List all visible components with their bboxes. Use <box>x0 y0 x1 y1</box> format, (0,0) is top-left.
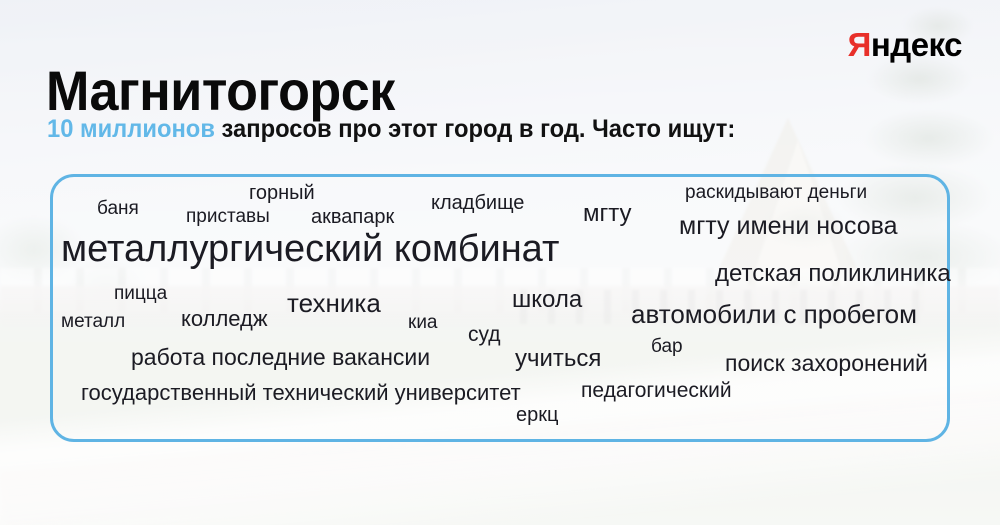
tag-cloud-item[interactable]: колледж <box>181 308 268 330</box>
tag-cloud-item[interactable]: пицца <box>114 284 167 303</box>
tag-cloud-item[interactable]: киа <box>408 313 438 332</box>
tag-cloud-item[interactable]: еркц <box>516 405 558 425</box>
subtitle: 10 миллионов запросов про этот город в г… <box>47 114 735 144</box>
tag-cloud-item[interactable]: кладбище <box>431 193 524 213</box>
tag-cloud-item[interactable]: аквапарк <box>311 207 394 227</box>
tag-cloud-item[interactable]: мгту имени носова <box>679 214 898 239</box>
tag-cloud-item[interactable]: педагогический <box>581 380 732 401</box>
yandex-logo-rest: ндекс <box>871 26 962 63</box>
infographic-canvas: Яндекс Магнитогорск 10 миллионов запросо… <box>0 0 1000 525</box>
tag-cloud-item[interactable]: школа <box>512 288 582 312</box>
subtitle-highlight: 10 миллионов <box>47 115 215 143</box>
tag-cloud-item[interactable]: поиск захоронений <box>725 352 928 375</box>
tag-cloud-item[interactable]: учиться <box>515 347 601 371</box>
tag-cloud-item[interactable]: приставы <box>186 207 270 226</box>
subtitle-rest: запросов про этот город в год. Часто ищу… <box>215 115 735 143</box>
tag-cloud-item[interactable]: баня <box>97 199 139 218</box>
tag-cloud-item[interactable]: работа последние вакансии <box>131 346 430 369</box>
tag-cloud-item[interactable]: бар <box>651 337 683 356</box>
tag-cloud-item[interactable]: автомобили с пробегом <box>631 301 917 327</box>
tag-cloud-item[interactable]: государственный технический университет <box>81 382 521 404</box>
tag-cloud-item[interactable]: раскидывают деньги <box>685 183 867 202</box>
tag-cloud-item[interactable]: мгту <box>583 202 632 226</box>
content-layer: Яндекс Магнитогорск 10 миллионов запросо… <box>0 0 1000 525</box>
tag-cloud-item[interactable]: горный <box>249 183 315 203</box>
tag-cloud-item[interactable]: суд <box>468 324 501 345</box>
tag-cloud-item[interactable]: детская поликлиника <box>715 262 951 286</box>
yandex-logo-ya: Я <box>848 26 871 63</box>
tag-cloud-item[interactable]: металлургический комбинат <box>61 230 559 268</box>
tag-cloud: банягорныйприставыаквапарккладбищемгтура… <box>50 174 950 442</box>
tag-cloud-item[interactable]: металл <box>61 312 125 331</box>
tag-cloud-item[interactable]: техника <box>287 290 381 316</box>
yandex-logo: Яндекс <box>848 28 962 61</box>
page-title: Магнитогорск <box>46 62 395 121</box>
